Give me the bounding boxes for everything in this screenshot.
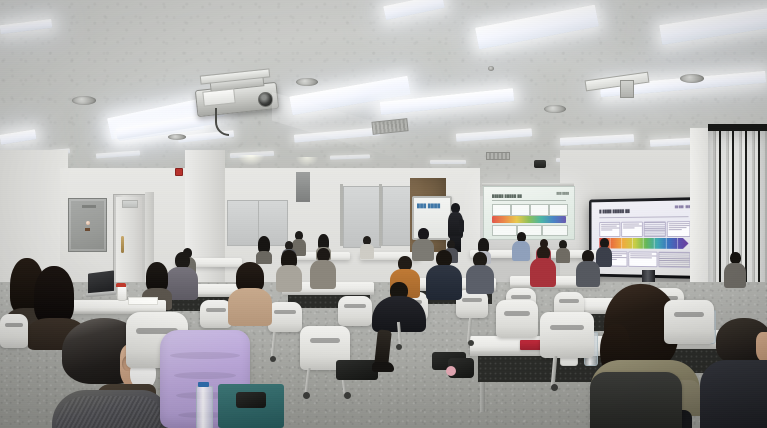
chair-caster [468, 340, 474, 346]
audience-member [276, 250, 302, 290]
whiteboard-writing: ███ ████ [417, 203, 440, 208]
water-bottle [196, 386, 213, 428]
audience-member [360, 236, 374, 258]
audience-member [724, 252, 746, 286]
torso [700, 360, 767, 428]
torso [310, 260, 336, 289]
door-leaf[interactable] [116, 197, 142, 294]
hair [34, 266, 74, 324]
audience-member [228, 262, 272, 324]
slide-rule [599, 216, 688, 218]
wall-downlight-glow [238, 155, 264, 165]
chair-back-slot [344, 304, 366, 308]
audience-member [466, 252, 494, 292]
chair[interactable] [664, 300, 714, 344]
chair-back-slot [504, 311, 530, 316]
chair-caster [270, 356, 276, 362]
projector-lens-icon [258, 92, 273, 107]
slide-box [667, 221, 691, 237]
chair[interactable] [338, 296, 372, 326]
chair-caster [551, 384, 558, 391]
slide-box [621, 222, 643, 237]
slide-title: █ ████ █████ ██ [599, 209, 630, 213]
ceiling-speaker-icon [680, 74, 704, 83]
audience-member [512, 232, 530, 260]
rear-glass-panel [382, 186, 412, 246]
coffee-cup-lid [116, 283, 126, 287]
chair-back-slot [5, 323, 23, 327]
torso [360, 244, 374, 259]
ceiling-camera-icon [534, 160, 546, 168]
slide-gradient-arrow [599, 238, 688, 249]
chair[interactable] [0, 314, 28, 348]
fire-alarm-icon [175, 168, 183, 176]
bag-on-floor [236, 392, 266, 408]
ceiling-speaker-icon [296, 78, 318, 86]
partition-header-track [708, 124, 767, 131]
projected-slide-rule [492, 200, 566, 201]
projected-slide-box [549, 204, 568, 216]
chair-caster [303, 392, 310, 399]
table-leg [480, 382, 485, 412]
ceiling-light [430, 160, 466, 164]
chair[interactable] [268, 302, 302, 332]
audience-member [576, 250, 600, 286]
chair-back-slot [559, 299, 579, 303]
projected-slide-box [511, 204, 530, 216]
electrical-panel-switch [85, 228, 90, 231]
sweater-texture [56, 396, 162, 428]
projected-slide-box [530, 204, 549, 216]
face [756, 332, 767, 362]
chair-back-slot [310, 338, 340, 343]
jacket-crease [170, 352, 240, 359]
ceiling-speaker-icon [72, 96, 96, 105]
ceiling-speaker-icon [544, 105, 566, 113]
torso [724, 263, 746, 288]
projected-slide-box [542, 225, 568, 236]
door-vision-panel [122, 200, 138, 208]
projector-mount-arm [620, 80, 634, 98]
slide-box [644, 221, 666, 237]
chair-caster [344, 392, 351, 399]
torso [466, 265, 494, 294]
wall-downlight-glow [296, 157, 318, 166]
electrical-panel-label [82, 205, 96, 208]
sprinkler-icon [488, 66, 494, 71]
audience-member [530, 246, 556, 286]
slide-box [599, 222, 620, 237]
door-handle[interactable] [121, 236, 124, 253]
coffee-cup [117, 286, 127, 301]
torso [512, 241, 530, 261]
torso [228, 288, 272, 326]
chair-back-slot [206, 308, 226, 312]
torso [426, 265, 462, 300]
chair[interactable] [540, 312, 594, 358]
audience-member [556, 240, 570, 262]
torso [530, 258, 556, 287]
audience-member [256, 236, 272, 262]
bag-charm [446, 366, 456, 376]
projected-slide-title: █████ █████ ██ [492, 194, 522, 198]
projected-slide-gradient-bar [492, 216, 566, 223]
audience-member [426, 250, 462, 298]
chair-back-slot [274, 310, 296, 314]
chair-back-slot [462, 298, 482, 302]
projected-slide-box [492, 204, 511, 216]
projected-slide-corner-mark: ███ ████ [556, 192, 569, 195]
paper-handout [128, 297, 158, 305]
chair[interactable] [496, 300, 538, 338]
chair-caster [396, 344, 402, 350]
seminar-room-photo: ███ ████ █████ █████ ██ ███ ████ █ ████ … [0, 0, 767, 428]
torso [556, 248, 570, 263]
chair[interactable] [590, 372, 682, 428]
jacket-crease [174, 372, 236, 379]
chair-back-slot [550, 325, 584, 330]
chair-back-slot [511, 295, 531, 299]
bottle-cap [198, 382, 209, 387]
rear-dark-opening [296, 172, 310, 202]
rear-glass-panel [227, 200, 259, 246]
shoe-icon [372, 362, 394, 372]
slide-box [658, 252, 690, 268]
electrical-panel-knob [86, 221, 90, 225]
ceiling-speaker-icon [168, 134, 186, 140]
audience-member [310, 248, 336, 288]
chair-back-slot [674, 312, 704, 317]
slide-box [628, 251, 657, 267]
presenter-arm [459, 219, 464, 233]
ceiling-air-vent [486, 152, 510, 160]
torso [276, 265, 302, 292]
